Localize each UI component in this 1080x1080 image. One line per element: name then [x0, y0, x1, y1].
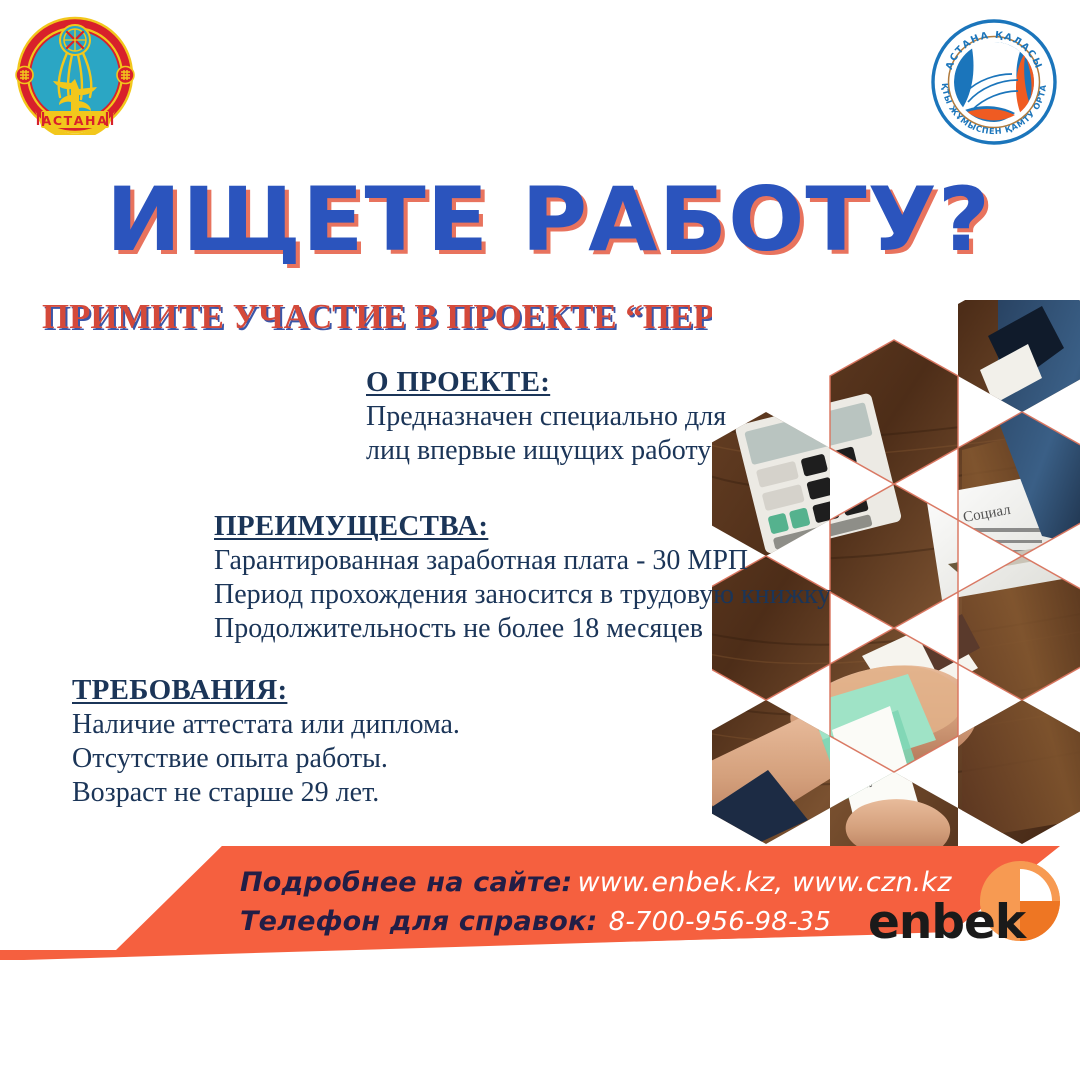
section-about: О ПРОЕКТЕ: Предназначен специально для л… [366, 364, 726, 468]
section-requirements-line-2: Отсутствие опыта работы. [72, 742, 460, 776]
section-benefits-line-1: Гарантированная заработная плата - 30 МР… [214, 544, 831, 578]
website-line: Подробнее на сайте: www.enbek.kz, www.cz… [240, 863, 920, 902]
section-requirements: ТРЕБОВАНИЯ: Наличие аттестата или диплом… [72, 672, 460, 810]
poster-canvas: АСТАНА [0, 0, 1080, 1080]
section-benefits-line-2: Период прохождения заносится в трудовую … [214, 578, 831, 612]
phone-line: Телефон для справок: 8-700-956-98-35 [240, 902, 920, 941]
section-benefits: ПРЕИМУЩЕСТВА: Гарантированная заработная… [214, 508, 831, 646]
section-requirements-line-3: Возраст не старше 29 лет. [72, 776, 460, 810]
employment-centre-logo-icon: АСТАНА ҚАЛАСЫ ХАЛЫҚТЫ ЖҰМЫСПЕН ҚАМТУ ОРТ… [930, 18, 1058, 146]
astana-emblem-caption: АСТАНА [42, 113, 109, 128]
section-about-line-1: Предназначен специально для [366, 400, 726, 434]
astana-coat-of-arms-icon: АСТАНА [15, 15, 135, 135]
page-title: ИЩЕТЕ РАБОТУ? [106, 172, 983, 268]
phone-value[interactable]: 8-700-956-98-35 [603, 907, 832, 937]
section-requirements-line-1: Наличие аттестата или диплома. [72, 708, 460, 742]
website-label: Подробнее на сайте: [240, 867, 572, 898]
enbek-logo[interactable]: enbek [868, 855, 1068, 965]
enbek-wordmark: enbek [868, 899, 1025, 946]
phone-label: Телефон для справок: [240, 906, 598, 937]
section-requirements-heading: ТРЕБОВАНИЯ: [72, 672, 460, 708]
section-about-line-2: лиц впервые ищущих работу [366, 434, 726, 468]
section-about-heading: О ПРОЕКТЕ: [366, 364, 726, 400]
section-benefits-heading: ПРЕИМУЩЕСТВА: [214, 508, 831, 544]
contact-banner-text: Подробнее на сайте: www.enbek.kz, www.cz… [240, 863, 920, 941]
section-benefits-line-3: Продолжительность не более 18 месяцев [214, 612, 831, 646]
